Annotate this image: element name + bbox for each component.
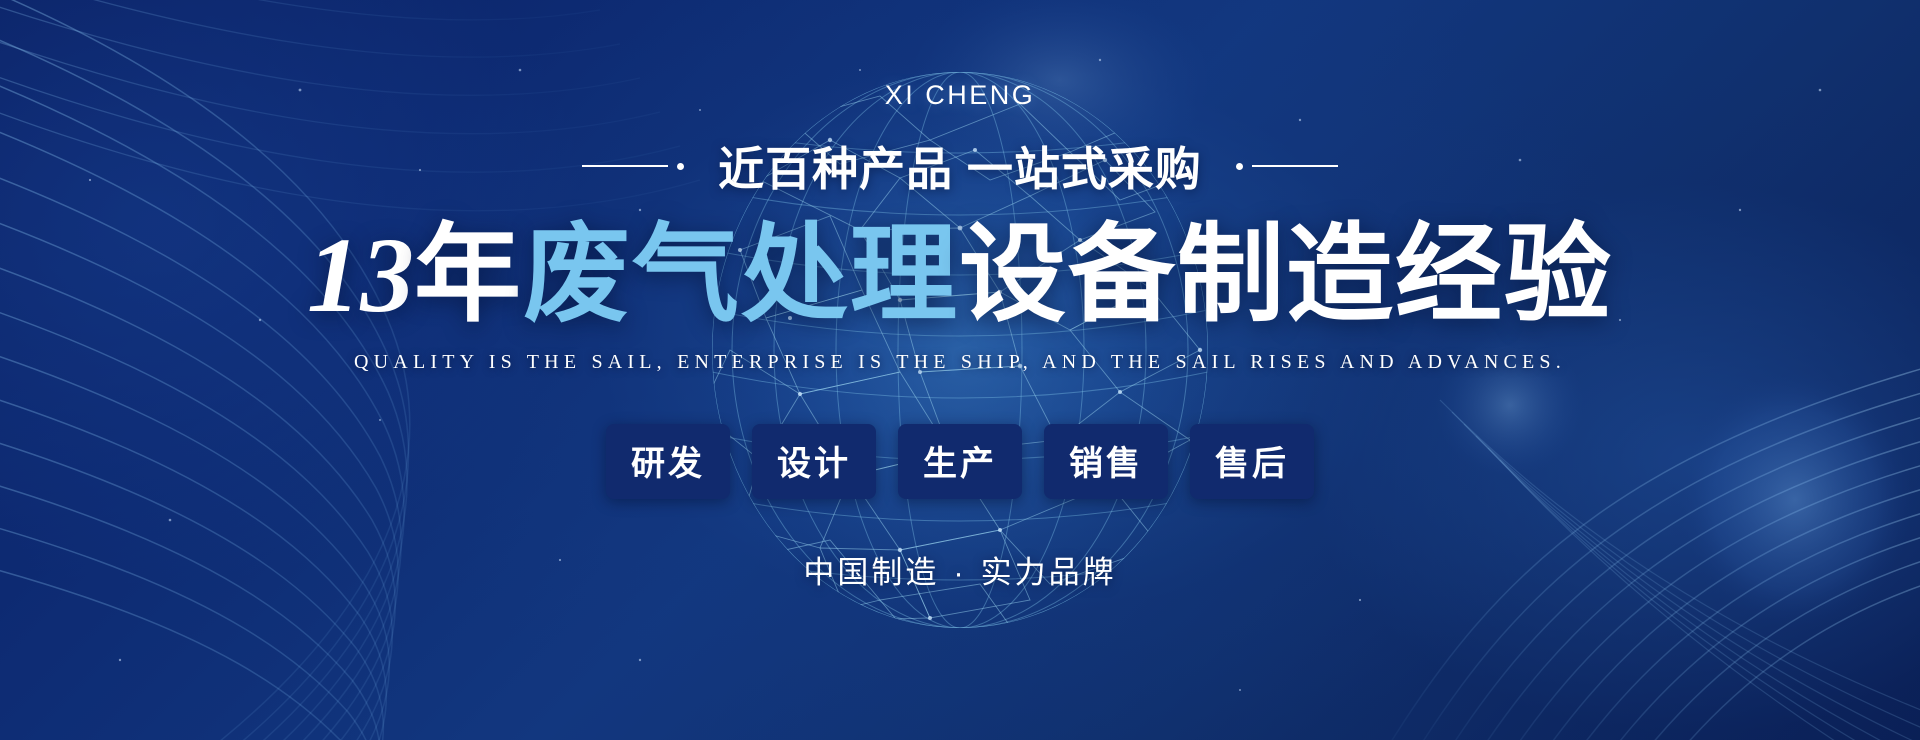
hero-banner: XI CHENG 近百种产品 一站式采购 13年废气处理设备制造经验 QUALI… xyxy=(0,0,1920,740)
subtitle-row: 近百种产品 一站式采购 xyxy=(582,133,1338,199)
service-tag-rd[interactable]: 研发 xyxy=(606,424,730,499)
footer-slogan-right: 实力品牌 xyxy=(981,555,1117,590)
banner-content: XI CHENG 近百种产品 一站式采购 13年废气处理设备制造经验 QUALI… xyxy=(0,0,1920,740)
english-tagline: QUALITY IS THE SAIL, ENTERPRISE IS THE S… xyxy=(354,351,1566,374)
service-tag-design[interactable]: 设计 xyxy=(752,424,876,499)
footer-slogan: 中国制造·实力品牌 xyxy=(803,547,1116,592)
decoration-right-dot xyxy=(1236,163,1243,170)
decoration-left-bar xyxy=(582,165,668,167)
footer-slogan-left: 中国制造 xyxy=(803,555,939,590)
banner-subtitle: 近百种产品 一站式采购 xyxy=(718,133,1202,199)
service-tag-sales[interactable]: 销售 xyxy=(1044,424,1168,499)
headline-number: 13 xyxy=(307,217,414,335)
decoration-left xyxy=(582,163,684,170)
decoration-left-dot xyxy=(677,163,684,170)
service-tag-list: 研发 设计 生产 销售 售后 xyxy=(606,424,1314,499)
headline-tail: 设备制造经验 xyxy=(959,214,1613,334)
headline-highlight: 废气处理 xyxy=(523,214,959,334)
service-tag-aftersales[interactable]: 售后 xyxy=(1190,424,1314,499)
service-tag-production[interactable]: 生产 xyxy=(898,424,1022,499)
decoration-right-bar xyxy=(1252,165,1338,167)
decoration-right xyxy=(1236,163,1338,170)
headline: 13年废气处理设备制造经验 xyxy=(307,217,1613,335)
footer-slogan-separator: · xyxy=(953,555,966,590)
brand-english-name: XI CHENG xyxy=(885,80,1036,111)
headline-unit: 年 xyxy=(414,214,523,334)
